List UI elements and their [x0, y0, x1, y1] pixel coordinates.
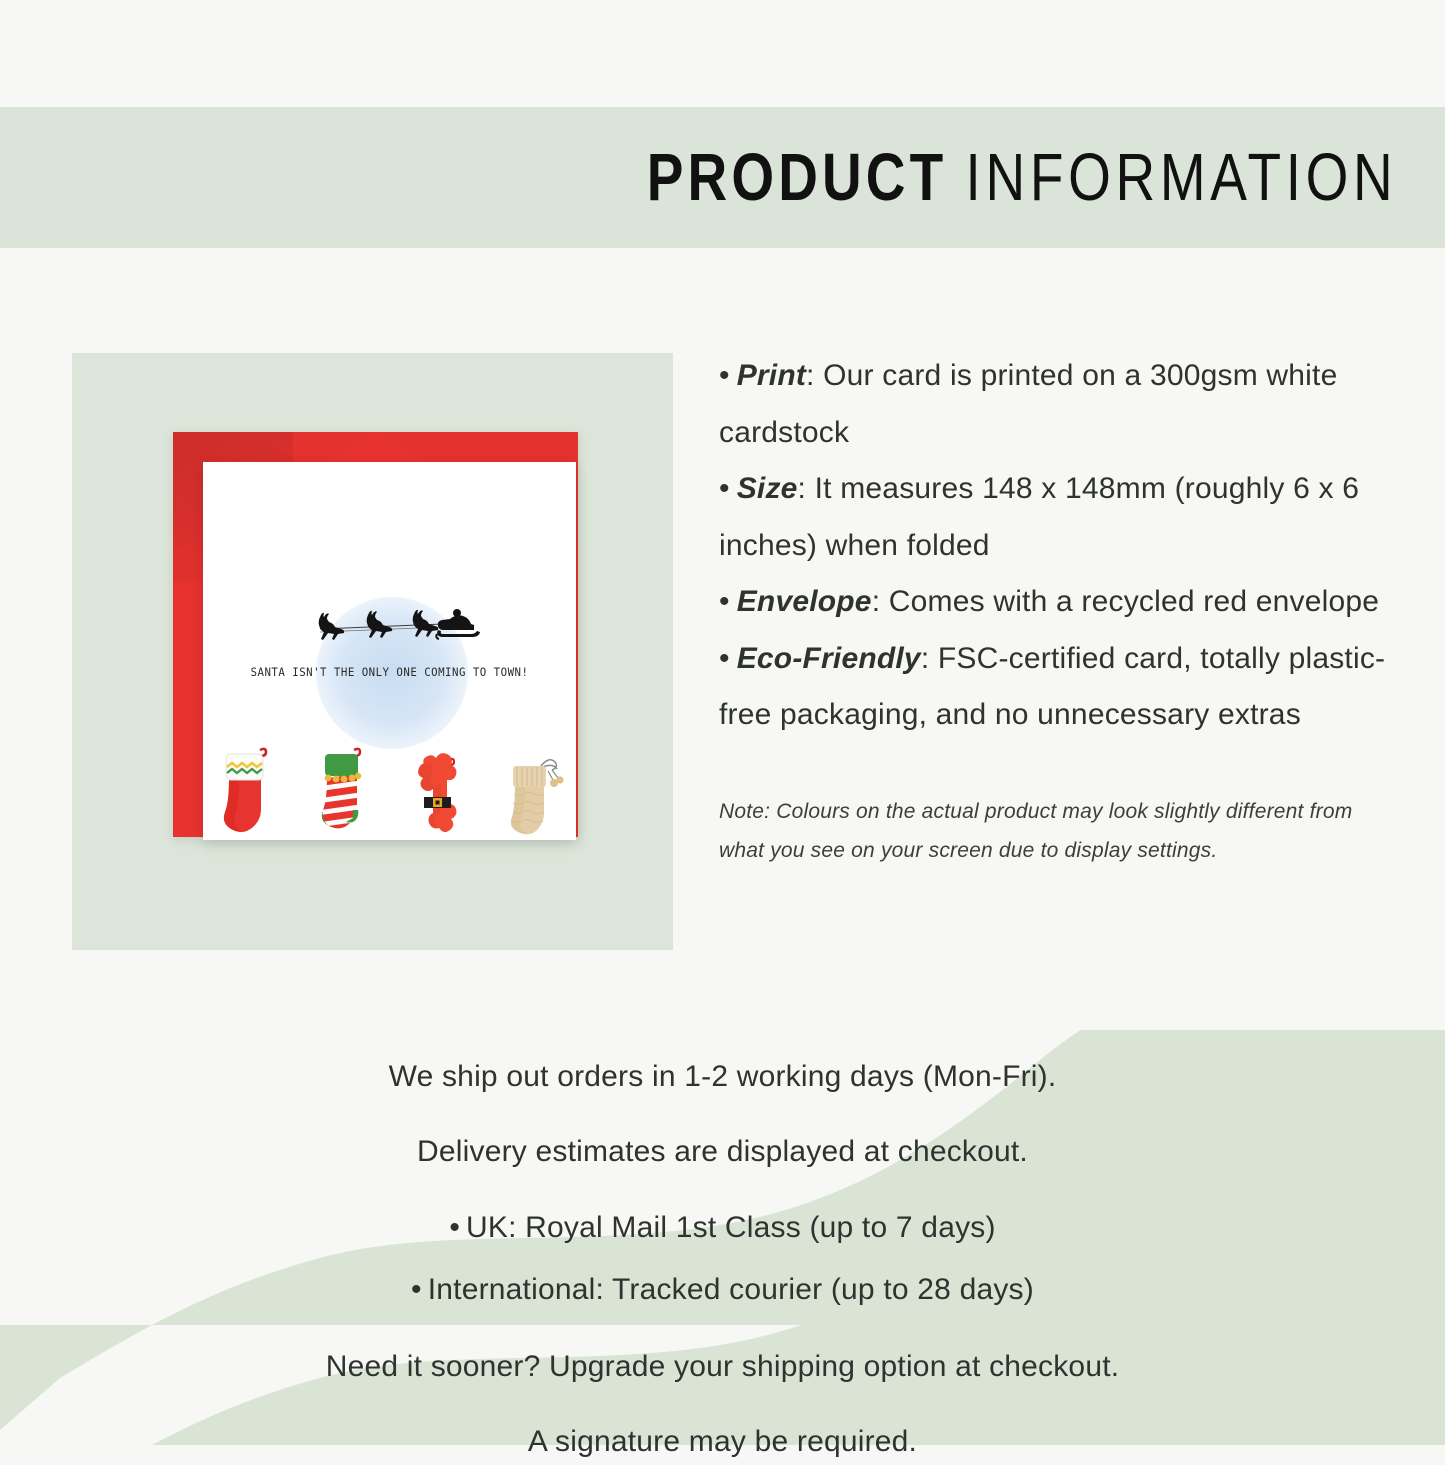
- shipping-option-text: UK: Royal Mail 1st Class (up to 7 days): [466, 1211, 996, 1244]
- info-bullet-size: •Size: It measures 148 x 148mm (roughly …: [719, 461, 1397, 574]
- page-title: PRODUCT INFORMATION: [646, 144, 1397, 211]
- bullet-dot-icon: •: [719, 359, 730, 392]
- info-bullet-text: Comes with a recycled red envelope: [880, 585, 1379, 618]
- shipping-line-2: Delivery estimates are displayed at chec…: [0, 1128, 1445, 1175]
- bullet-dot-icon: •: [411, 1273, 422, 1306]
- shipping-option-international: •International: Tracked courier (up to 2…: [0, 1259, 1445, 1321]
- shipping-line-1: We ship out orders in 1-2 working days (…: [0, 1053, 1445, 1100]
- bullet-dot-icon: •: [719, 472, 730, 505]
- page-title-light: INFORMATION: [965, 140, 1397, 215]
- shipping-line-3: Need it sooner? Upgrade your shipping op…: [0, 1343, 1445, 1390]
- bullet-dot-icon: •: [449, 1211, 460, 1244]
- info-bullet-label: Eco-Friendly: [737, 642, 921, 675]
- info-bullet-colon: :: [806, 359, 815, 392]
- stockings-row: SAM: [203, 732, 576, 840]
- striped-stocking-green-cuff-icon: [313, 732, 371, 840]
- shipping-line-4: A signature may be required.: [0, 1418, 1445, 1465]
- stocking-item: MAY: [401, 732, 475, 840]
- info-bullet-label: Print: [737, 359, 806, 392]
- red-stocking-white-cuff-icon: [215, 732, 277, 840]
- info-bullet-envelope: •Envelope: Comes with a recycled red env…: [719, 574, 1397, 631]
- bullet-dot-icon: •: [719, 585, 730, 618]
- info-bullet-label: Size: [737, 472, 798, 505]
- info-bullet-colon: :: [872, 585, 881, 618]
- greeting-card: SANTA ISN'T THE ONLY ONE COMING TO TOWN!: [203, 462, 576, 840]
- shipping-option-uk: •UK: Royal Mail 1st Class (up to 7 days): [0, 1197, 1445, 1259]
- product-image-panel: SANTA ISN'T THE ONLY ONE COMING TO TOWN!: [72, 353, 673, 950]
- page-header-band: PRODUCT INFORMATION: [0, 107, 1445, 248]
- spacer: [0, 1175, 1445, 1197]
- dog-bone-stocking-icon: [413, 732, 463, 840]
- stocking-item: COMING SOON: [497, 732, 571, 840]
- info-bullet-text: It measures 148 x 148mm (roughly 6 x 6 i…: [719, 472, 1359, 562]
- colour-disclaimer-note: Note: Colours on the actual product may …: [719, 792, 1391, 870]
- bullet-dot-icon: •: [719, 642, 730, 675]
- page-title-bold: PRODUCT: [646, 140, 946, 215]
- spacer: [0, 1100, 1445, 1128]
- info-bullet-eco-friendly: •Eco-Friendly: FSC-certified card, total…: [719, 631, 1397, 744]
- shipping-info-block: We ship out orders in 1-2 working days (…: [0, 1053, 1445, 1465]
- product-info-list: •Print: Our card is printed on a 300gsm …: [719, 348, 1397, 870]
- shipping-option-text: International: Tracked courier (up to 28…: [428, 1273, 1034, 1306]
- info-bullet-colon: :: [798, 472, 807, 505]
- spacer: [0, 1390, 1445, 1418]
- spacer: [0, 1321, 1445, 1343]
- stocking-item: NICOLA: [305, 732, 379, 840]
- card-tagline: SANTA ISN'T THE ONLY ONE COMING TO TOWN!: [210, 666, 568, 679]
- santa-sleigh-reindeer-silhouette-icon: [203, 605, 576, 652]
- knitted-cream-stocking-icon: [503, 732, 565, 840]
- info-bullet-label: Envelope: [737, 585, 872, 618]
- stocking-item: SAM: [209, 732, 283, 840]
- info-bullet-print: •Print: Our card is printed on a 300gsm …: [719, 348, 1397, 461]
